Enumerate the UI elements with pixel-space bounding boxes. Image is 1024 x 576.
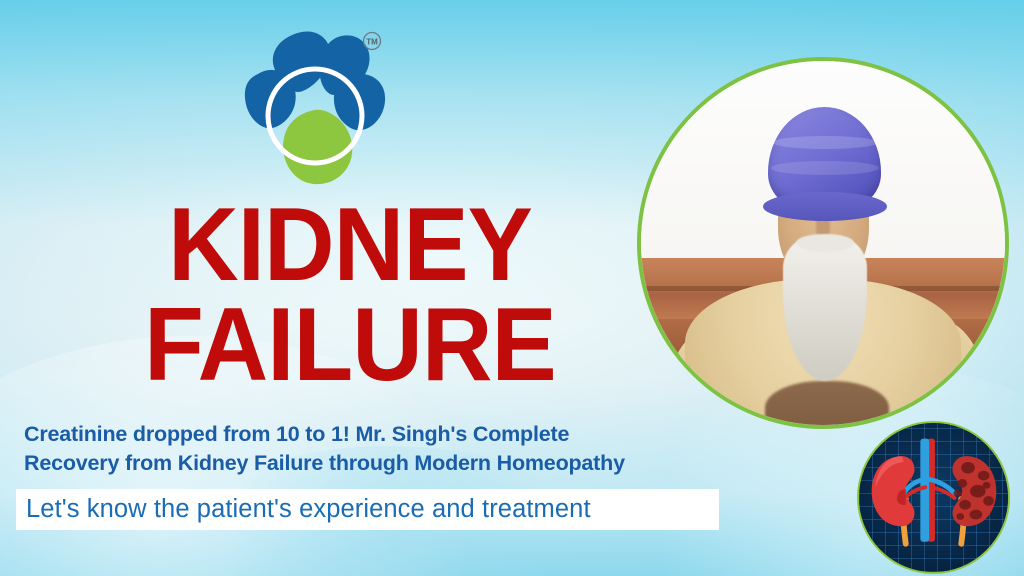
brand-logo: TM [228,26,398,192]
subtitle: Creatinine dropped from 10 to 1! Mr. Sin… [24,420,736,477]
thumbnail-canvas: TM KIDNEY FAILURE Creatinine dropped fro… [0,0,1024,576]
subtitle-line-1: Creatinine dropped from 10 to 1! Mr. Sin… [24,420,736,449]
headline-line-2: FAILURE [21,296,679,396]
photo-turban-band [763,192,887,221]
photo-hands [765,381,889,429]
subtitle-line-2: Recovery from Kidney Failure through Mod… [24,449,736,478]
five-petal-flower-logo-icon: TM [228,26,398,192]
headline-line-1: KIDNEY [21,196,679,296]
patient-photo [637,57,1009,429]
svg-text:TM: TM [366,38,378,47]
kidneys-healthy-and-diseased-icon [859,423,1008,572]
page-title: KIDNEY FAILURE [0,196,700,396]
photo-moustache [796,234,854,252]
kicker-text: Let's know the patient's experience and … [26,490,716,529]
trademark-icon: TM [364,33,381,50]
kidney-badge [857,421,1010,574]
